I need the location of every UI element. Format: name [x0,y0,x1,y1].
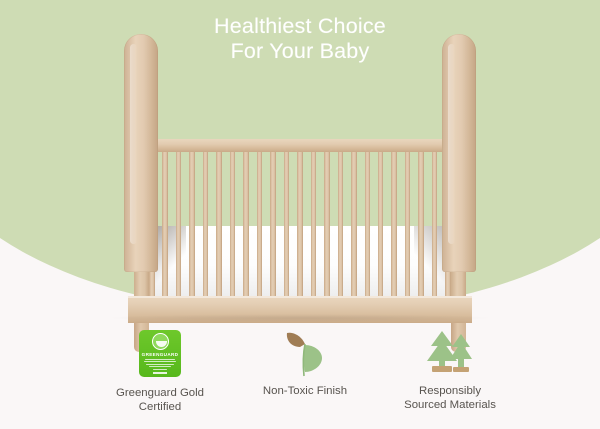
crib-arch-post-left [124,34,158,272]
greenguard-fineprint-line [153,369,167,370]
crib-slat [203,146,209,296]
crib-slat [230,146,236,296]
crib-slat [311,146,317,296]
greenguard-badge: GREENGUARD [139,330,181,377]
greenguard-badge-footer-mark [153,372,167,374]
crib-slat [189,146,195,296]
crib-slats [149,146,451,296]
feature-list: GREENGUARD Greenguard Gold Certified [95,327,515,414]
feature-responsibly-sourced-materials: Responsibly Sourced Materials [385,327,515,412]
greenguard-fineprint-line [144,361,176,362]
crib-slat [365,146,371,296]
feature-label: Responsibly Sourced Materials [404,384,496,412]
crib-slat [418,146,424,296]
tree-back-shape [450,334,472,372]
crib-slat [243,146,249,296]
feature-label-line-1: Non-Toxic Finish [263,384,347,398]
crib-slat [432,146,438,296]
crib-slat [351,146,357,296]
crib-slat [297,146,303,296]
feature-non-toxic-finish: Non-Toxic Finish [240,327,370,398]
crib-slat [162,146,168,296]
feature-label: Non-Toxic Finish [263,384,347,398]
crib-top-rail [128,139,472,152]
crib-slat [176,146,182,296]
feature-label: Greenguard Gold Certified [116,386,204,414]
crib-slat [405,146,411,296]
crib-slat [324,146,330,296]
greenguard-fineprint-line [146,364,174,365]
feature-label-line-2: Sourced Materials [404,398,496,412]
crib-slat [257,146,263,296]
crib-slat [391,146,397,296]
promotional-product-graphic: Healthiest Choice For Your Baby [0,0,600,429]
greenguard-fineprint-line [145,359,175,360]
tree-front-shape [427,331,457,372]
feature-greenguard-gold-certified: GREENGUARD Greenguard Gold Certified [95,327,225,414]
greenguard-logo-circle-icon [152,333,169,350]
crib-slat [284,146,290,296]
greenguard-badge-fineprint [143,359,177,371]
feature-label-line-1: Responsibly [404,384,496,398]
crib-floor-shadow [110,314,490,322]
two-leaves-icon [281,327,329,379]
feature-label-line-1: Greenguard Gold [116,386,204,400]
leaf-lower-green-shape [304,345,323,372]
leaf-upper-brown-shape [287,333,305,347]
crib-arch-post-right [442,34,476,272]
feature-label-line-2: Certified [116,400,204,414]
crib-slat [270,146,276,296]
pine-trees-icon [421,327,479,379]
crib-product-image [112,34,488,310]
crib-slat [216,146,222,296]
greenguard-fineprint-line [149,366,171,367]
greenguard-gold-badge-icon: GREENGUARD [139,327,181,379]
greenguard-badge-word: GREENGUARD [142,352,179,357]
crib-slat [378,146,384,296]
crib-slat [338,146,344,296]
